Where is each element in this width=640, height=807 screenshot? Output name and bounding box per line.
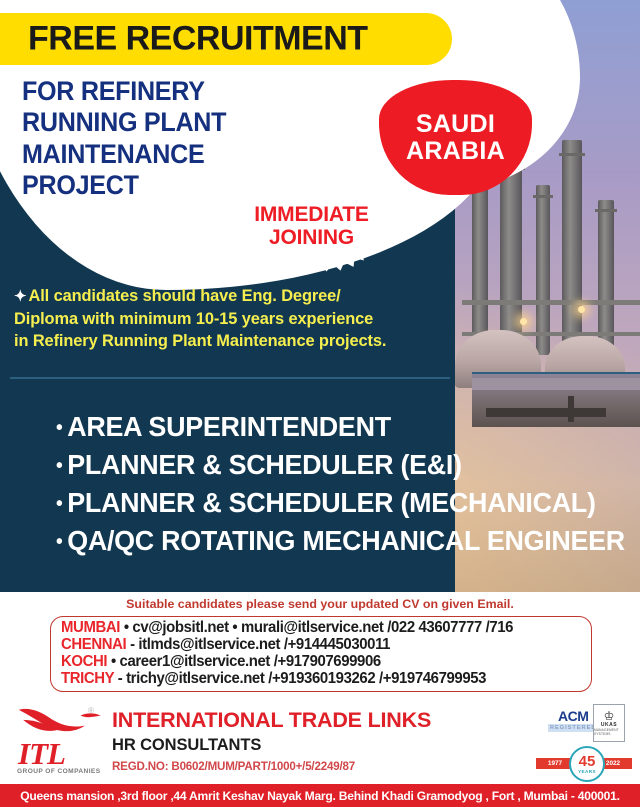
- anniversary-label: YEARS: [578, 769, 596, 774]
- acm-badge: ACM REGISTERED: [548, 708, 598, 732]
- job-title: PLANNER & SCHEDULER (E&I): [67, 449, 462, 480]
- acm-title: ACM: [548, 708, 598, 724]
- urgency-line-2: JOINING: [269, 227, 354, 250]
- headline-line-2: RUNNING PLANT: [22, 107, 226, 138]
- registration-number: REGD.NO: B0602/MUM/PART/1000+/5/2249/87: [112, 760, 355, 773]
- requirement-block: ✦All candidates should have Eng. Degree/…: [14, 285, 450, 353]
- contact-value[interactable]: - itlmds@itlservice.net /+914445030011: [130, 636, 390, 653]
- headline-line-3: MAINTENANCE: [22, 139, 226, 170]
- contact-row-kochi: KOCHI • career1@itlservice.net /+9179076…: [61, 653, 381, 671]
- refinery-tower-icon: [500, 155, 522, 355]
- divider: [10, 377, 450, 379]
- refinery-pipe: [462, 300, 640, 305]
- itl-tagline: GROUP OF COMPANIES: [17, 768, 101, 775]
- headline-line-4: PROJECT: [22, 170, 226, 201]
- list-item: •PLANNER & SCHEDULER (MECHANICAL): [56, 484, 640, 522]
- cv-instruction-text: Suitable candidates please send your upd…: [0, 597, 640, 611]
- list-item: •PLANNER & SCHEDULER (E&I): [56, 446, 640, 484]
- itl-logo: ® ITL GROUP OF COMPANIES: [10, 702, 106, 776]
- contact-row-trichy: TRICHY - trichy@itlservice.net /+9193601…: [61, 670, 486, 688]
- job-title: AREA SUPERINTENDENT: [67, 411, 391, 442]
- photo-detail: [472, 378, 640, 390]
- refinery-tower-icon: [536, 185, 550, 355]
- contact-city: KOCHI: [61, 653, 107, 670]
- refinery-light: [520, 318, 527, 325]
- requirement-text-1: All candidates should have Eng. Degree/: [28, 287, 340, 305]
- refinery-tower-icon: [562, 140, 582, 355]
- job-title: QA/QC ROTATING MECHANICAL ENGINEER: [67, 525, 625, 556]
- immediate-joining-badge: IMMEDIATE JOINING: [218, 176, 405, 277]
- contact-city: TRICHY: [61, 670, 114, 687]
- contact-city: CHENNAI: [61, 636, 126, 653]
- footer-section: ® ITL GROUP OF COMPANIES INTERNATIONAL T…: [0, 696, 640, 784]
- address-bar: Queens mansion ,3rd floor ,44 Amrit Kesh…: [0, 784, 640, 807]
- office-address: Queens mansion ,3rd floor ,44 Amrit Kesh…: [20, 789, 619, 803]
- anniversary-number: 45: [579, 754, 596, 769]
- contact-row-chennai: CHENNAI - itlmds@itlservice.net /+914445…: [61, 636, 390, 654]
- bullet-icon: •: [56, 493, 62, 515]
- contact-city: MUMBAI: [61, 619, 120, 636]
- country-badge-line-2: ARABIA: [406, 138, 505, 165]
- anniversary-badge: 1977 2022 45 YEARS: [536, 746, 632, 780]
- job-positions-list: •AREA SUPERINTENDENT •PLANNER & SCHEDULE…: [16, 408, 640, 560]
- bullet-icon: •: [56, 455, 62, 477]
- contact-value[interactable]: - trichy@itlservice.net /+919360193262 /…: [118, 670, 486, 687]
- page-title: FOR REFINERY RUNNING PLANT MAINTENANCE P…: [22, 76, 242, 201]
- contact-row-mumbai: MUMBAI • cv@jobsitl.net • murali@itlserv…: [61, 619, 513, 637]
- registered-mark: ®: [88, 706, 94, 715]
- bullet-icon: •: [56, 417, 62, 439]
- itl-wordmark: ITL: [18, 736, 65, 772]
- urgency-line-1: IMMEDIATE: [254, 204, 368, 227]
- contact-section: Suitable candidates please send your upd…: [0, 592, 640, 696]
- requirement-line-3: in Refinery Running Plant Maintenance pr…: [14, 330, 450, 353]
- contact-value[interactable]: • cv@jobsitl.net • murali@itlservice.net…: [124, 619, 513, 636]
- refinery-light: [578, 306, 585, 313]
- job-title: PLANNER & SCHEDULER (MECHANICAL): [67, 487, 595, 518]
- crown-icon: ♔: [604, 710, 615, 722]
- list-item: •QA/QC ROTATING MECHANICAL ENGINEER: [56, 522, 640, 560]
- headline-line-1: FOR REFINERY: [22, 76, 226, 107]
- ukas-badge: ♔ UKAS MANAGEMENT SYSTEMS: [593, 704, 625, 742]
- contact-value[interactable]: • career1@itlservice.net /+917907699906: [111, 653, 381, 670]
- requirement-line-1: ✦All candidates should have Eng. Degree/: [14, 285, 450, 308]
- free-recruitment-banner: FREE RECRUITMENT: [0, 13, 452, 65]
- country-badge-line-1: SAUDI: [416, 111, 495, 138]
- bullet-icon: •: [56, 531, 62, 553]
- ukas-subtitle: MANAGEMENT SYSTEMS: [594, 728, 624, 736]
- company-name: INTERNATIONAL TRADE LINKS: [112, 708, 431, 733]
- contact-box: MUMBAI • cv@jobsitl.net • murali@itlserv…: [50, 616, 592, 692]
- requirement-line-2: Diploma with minimum 10-15 years experie…: [14, 308, 450, 331]
- recruitment-poster: FREE RECRUITMENT FOR REFINERY RUNNING PL…: [0, 0, 640, 807]
- company-role: HR CONSULTANTS: [112, 736, 261, 755]
- list-item: •AREA SUPERINTENDENT: [56, 408, 640, 446]
- sparkle-icon: ✦: [14, 288, 26, 305]
- banner-text: FREE RECRUITMENT: [28, 20, 368, 59]
- acm-subtitle: REGISTERED: [548, 724, 598, 732]
- anniversary-circle: 45 YEARS: [569, 746, 605, 782]
